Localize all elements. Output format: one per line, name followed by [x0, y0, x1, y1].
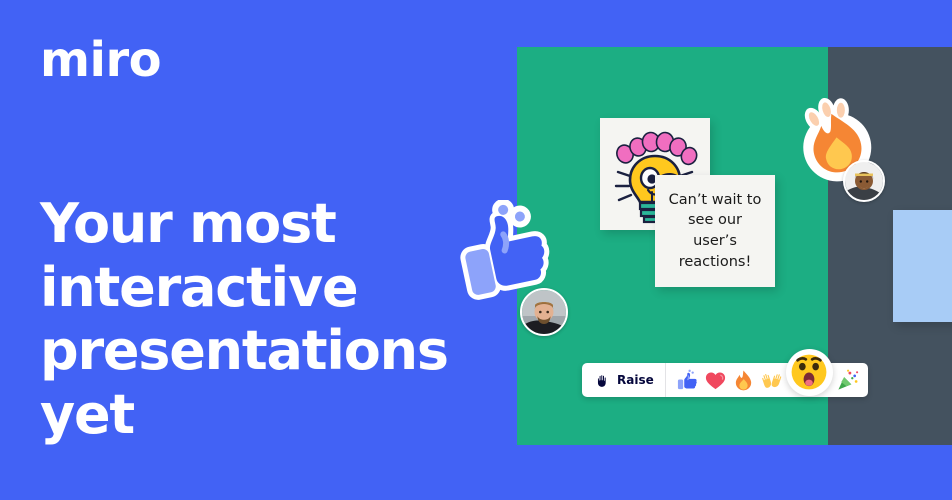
- surprised-face-icon: [790, 353, 828, 391]
- raise-hand-label: Raise: [617, 373, 654, 387]
- reaction-party-popper-button[interactable]: [836, 369, 859, 392]
- page-title: Your most interactive presentations yet: [40, 192, 470, 447]
- reaction-toolbar[interactable]: Raise: [582, 363, 868, 397]
- avatar-woman-photo: [845, 162, 883, 200]
- avatar-woman[interactable]: [843, 160, 885, 202]
- blue-sticky-note[interactable]: [893, 210, 952, 322]
- reaction-fire-button[interactable]: [732, 369, 755, 392]
- raised-hand-icon: [594, 372, 611, 389]
- raise-hand-button[interactable]: Raise: [582, 363, 666, 397]
- thumbs-up-icon: [676, 369, 699, 392]
- miro-marketing-banner: miro Your most interactive presentations…: [0, 0, 952, 500]
- reaction-thumbs-up-button[interactable]: [676, 369, 699, 392]
- heart-icon: [704, 369, 727, 392]
- fire-icon: [732, 369, 755, 392]
- reaction-surprised-face-button[interactable]: [786, 349, 833, 396]
- miro-logo[interactable]: miro: [40, 36, 161, 84]
- text-sticky-note[interactable]: Can’t wait to see our user’s reactions!: [655, 175, 775, 287]
- sticky-note-text: Can’t wait to see our user’s reactions!: [664, 190, 766, 272]
- avatar-man[interactable]: [520, 288, 568, 336]
- reaction-emoji-strip: [666, 357, 868, 404]
- reaction-waving-hands-button[interactable]: [760, 369, 783, 392]
- reaction-heart-button[interactable]: [704, 369, 727, 392]
- waving-hands-icon: [760, 369, 783, 392]
- party-popper-icon: [836, 369, 859, 392]
- avatar-man-photo: [522, 290, 566, 334]
